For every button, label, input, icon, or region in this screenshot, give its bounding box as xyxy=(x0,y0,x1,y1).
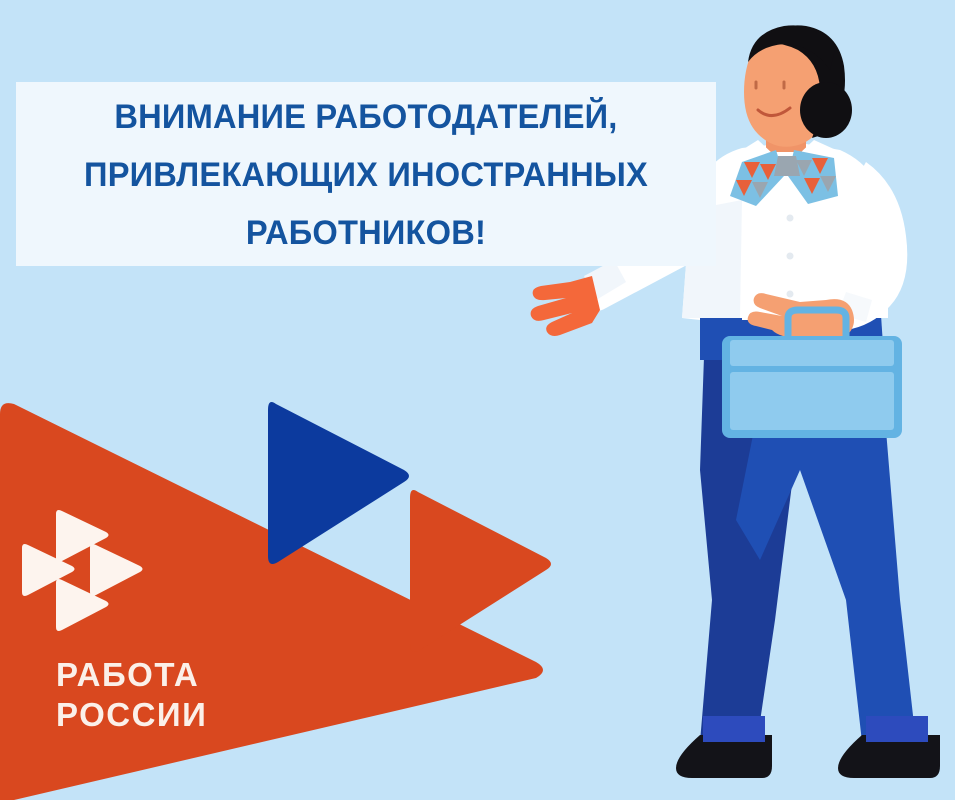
headline-panel xyxy=(16,82,716,266)
logo-blue-triangle xyxy=(268,402,409,564)
poster-canvas: РАБОТА РОССИИ ВНИМАНИЕ РАБОТОДАТЕЛЕЙ, ПР… xyxy=(0,0,955,800)
logo-small-orange-triangle xyxy=(410,490,551,652)
